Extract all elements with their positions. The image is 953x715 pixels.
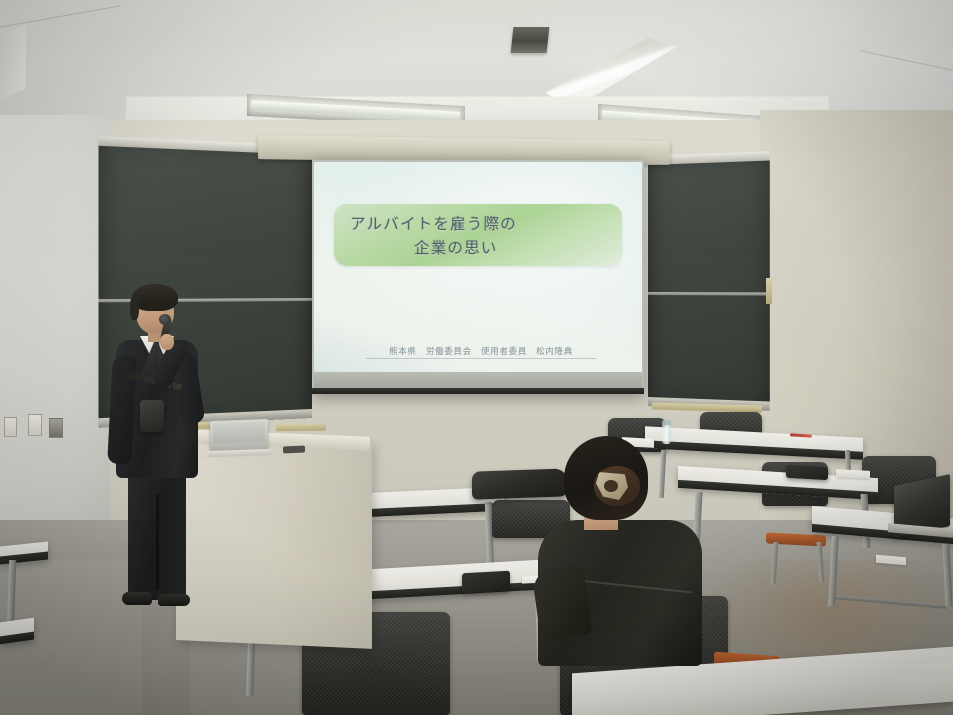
paper-stack[interactable] (836, 469, 870, 479)
microphone-head-icon (159, 314, 171, 325)
air-vent (0, 25, 26, 100)
presenter-person (96, 282, 218, 620)
slide-byline: 熊本県 労働委員会 使用者委員 松内隆典 (366, 345, 596, 359)
podium-laptop-lid (213, 422, 265, 444)
wall-outlet[interactable] (4, 417, 17, 437)
classroom-photo: アルバイトを雇う際の 企業の思い 熊本県 労働委員会 使用者委員 松内隆典 (0, 0, 953, 715)
screen-lower-band (314, 372, 642, 388)
chalkboard-divider (648, 292, 770, 296)
presentation-slide: アルバイトを雇う際の 企業の思い 熊本県 労働委員会 使用者委員 松内隆典 (314, 162, 642, 372)
presenter-leg-seam (156, 494, 159, 590)
screen-weight-bar (312, 388, 644, 394)
light-switch[interactable] (49, 418, 63, 438)
attendee-arm (531, 565, 592, 642)
attendee-person (528, 436, 708, 666)
remote-control[interactable] (283, 446, 305, 454)
presenter-shoe-left (122, 592, 152, 605)
projection-screen: アルバイトを雇う際の 企業の思い 熊本県 労働委員会 使用者委員 松内隆典 (312, 160, 644, 394)
slide-title-line-1: アルバイトを雇う際の (350, 212, 517, 234)
hair-clip-opening (604, 480, 618, 492)
desk-laptop[interactable] (888, 480, 950, 540)
chalkboard-right (648, 151, 770, 411)
black-notebook[interactable] (786, 465, 828, 480)
wall-trim-strip (766, 278, 772, 304)
presenter-hand (160, 334, 174, 350)
podium-laptop[interactable] (210, 419, 268, 453)
ceiling-speaker-icon (511, 27, 550, 53)
presenter-shoe-right (158, 594, 190, 606)
wireless-transmitter (140, 400, 164, 432)
black-notebook[interactable] (462, 571, 510, 594)
wall-outlet[interactable] (28, 414, 42, 436)
chalk-ledge (276, 424, 326, 432)
presenter-hair-side (130, 296, 139, 320)
slide-title-line-2: 企業の思い (414, 236, 498, 258)
